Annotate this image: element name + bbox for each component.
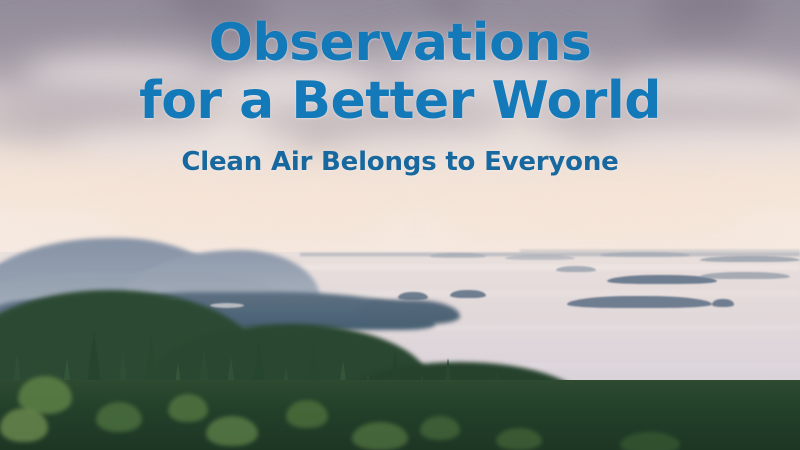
conifer-forest [0, 260, 800, 450]
hero-banner: Observations for a Better World Clean Ai… [0, 0, 800, 450]
page-subtitle: Clean Air Belongs to Everyone [0, 146, 800, 178]
banner-text-block: Observations for a Better World Clean Ai… [0, 0, 800, 210]
page-title: Observations for a Better World [0, 0, 800, 130]
title-line-1: Observations [209, 13, 592, 73]
title-line-2: for a Better World [0, 72, 800, 130]
